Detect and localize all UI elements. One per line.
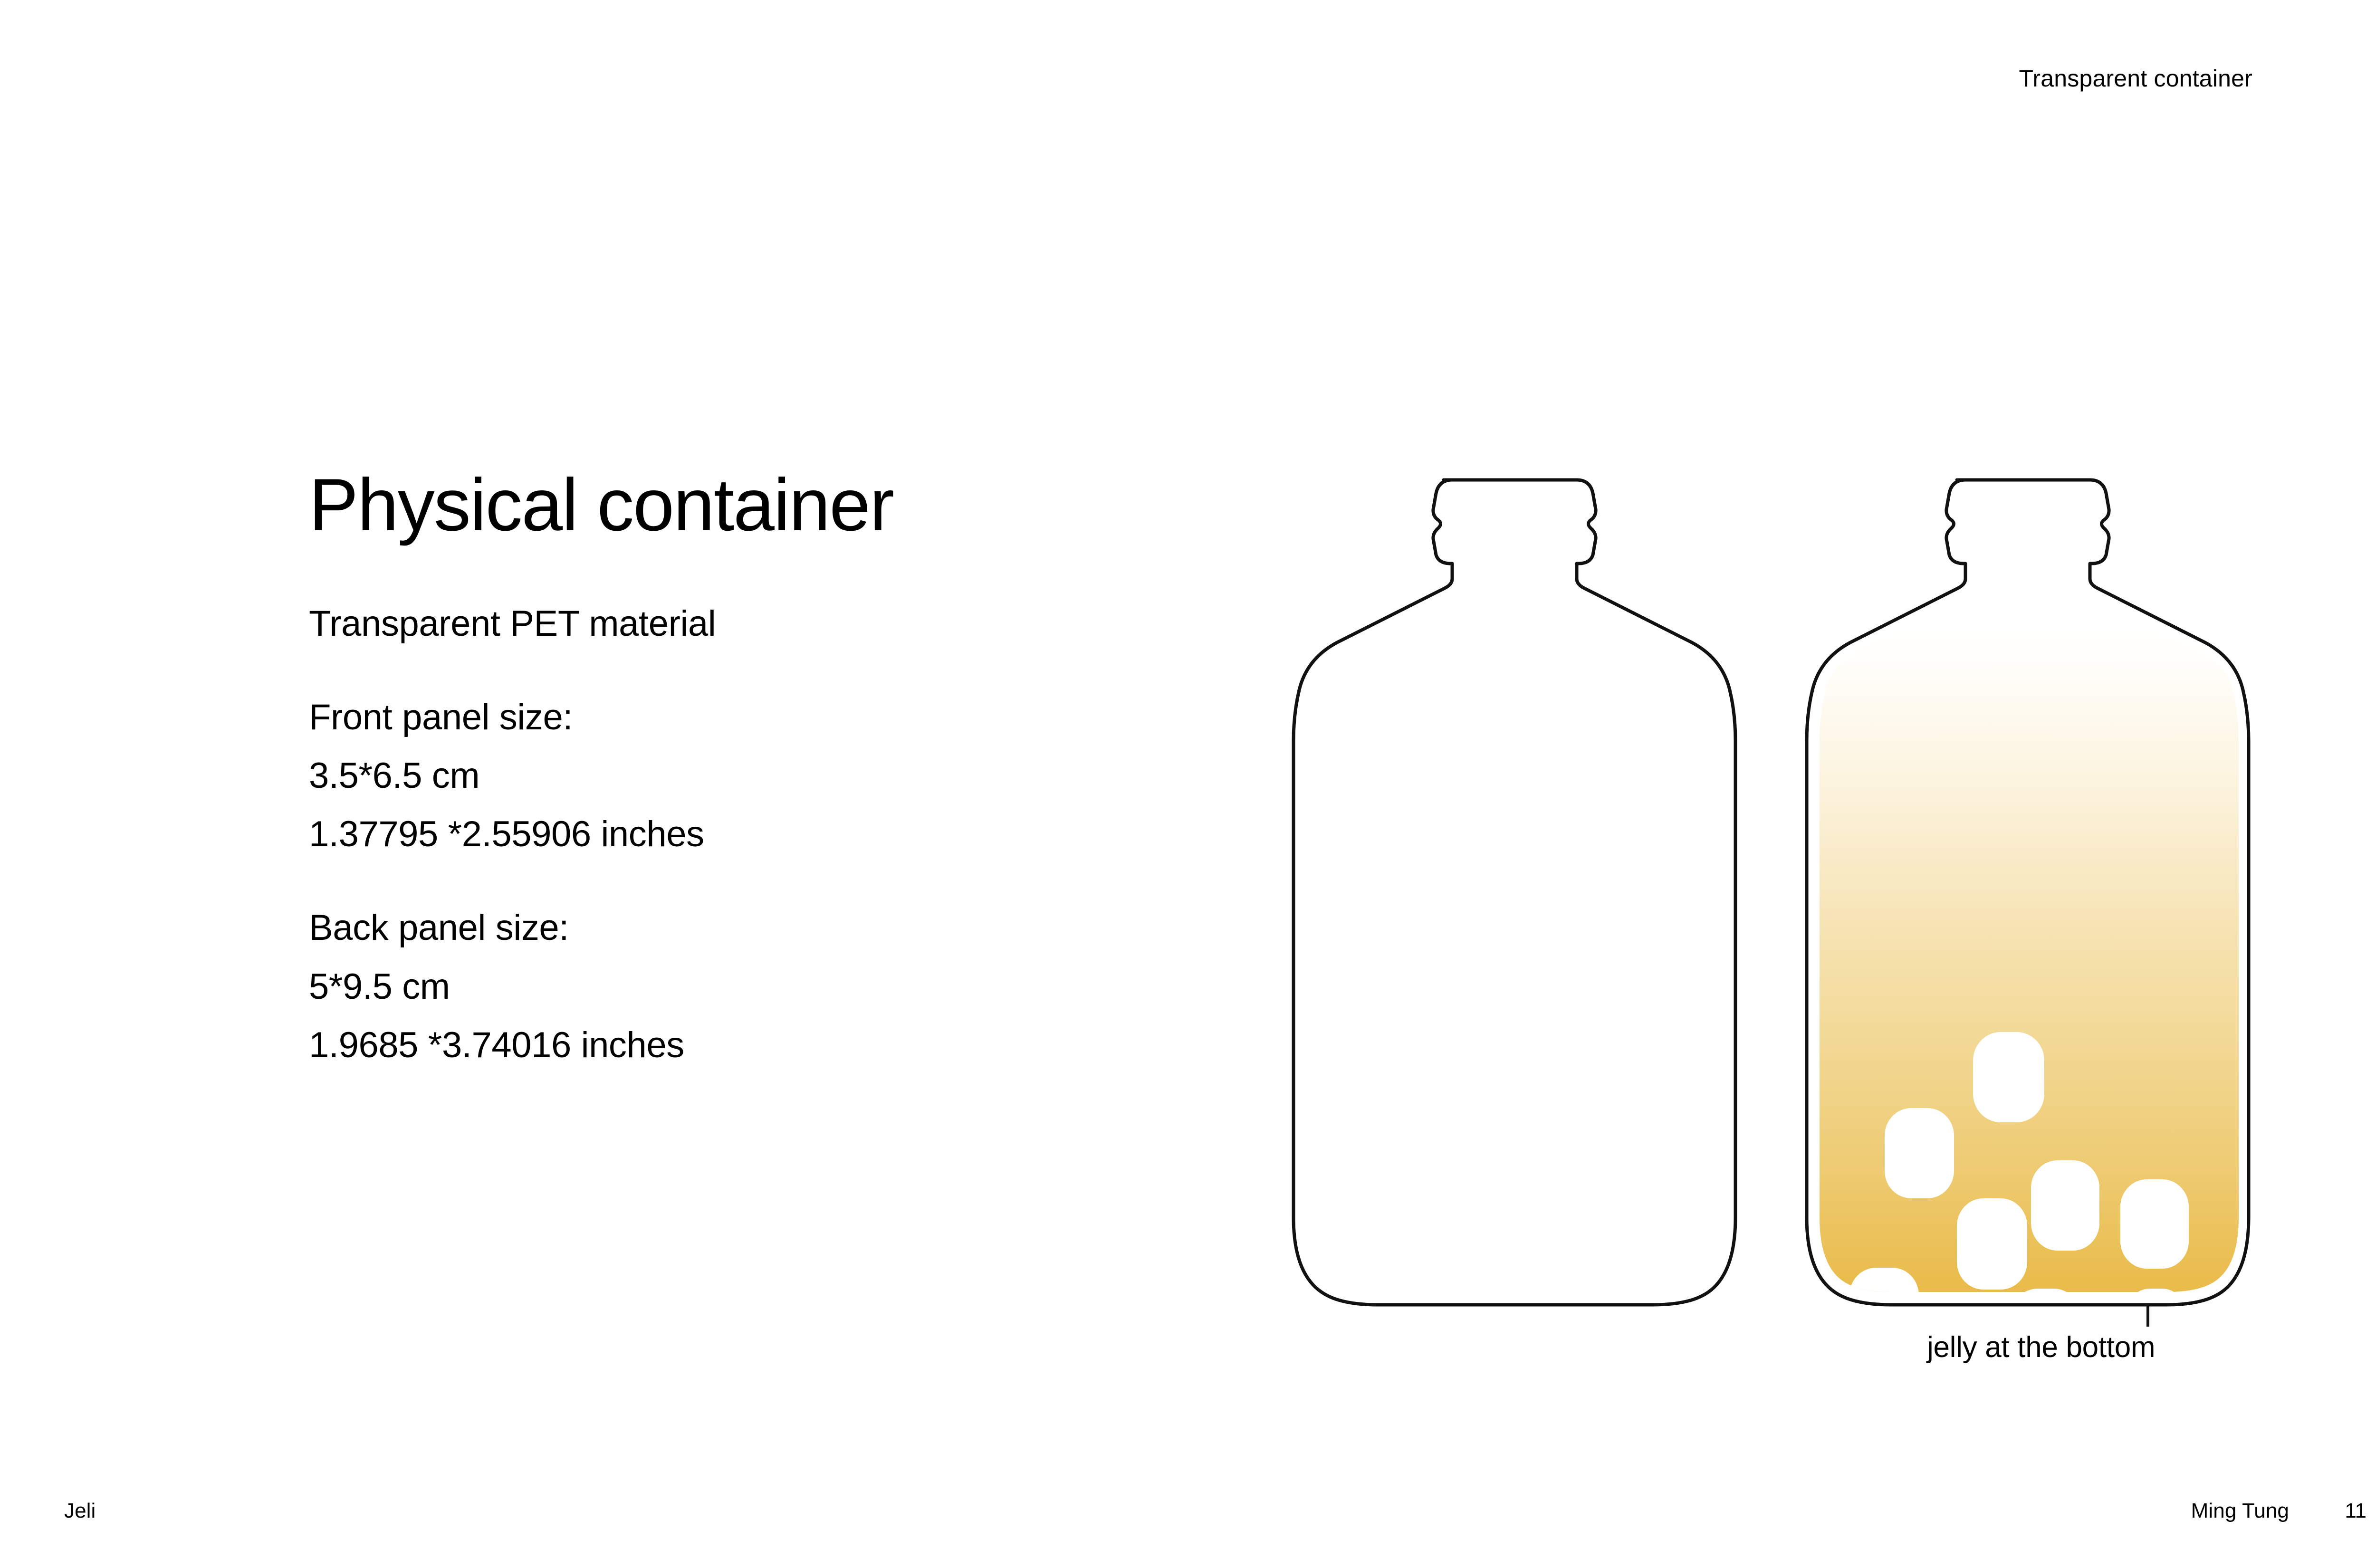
- footer-author-name: Ming Tung: [2191, 1501, 2289, 1521]
- footer-project-name: Jeli: [64, 1501, 96, 1521]
- running-header-title: Transparent container: [2019, 67, 2252, 90]
- material-note: Transparent PET material: [309, 594, 1212, 653]
- empty-bottle-graphic: [1293, 480, 1735, 1305]
- specs-block: Transparent PET material Front panel siz…: [309, 594, 1212, 1074]
- jelly-caption: jelly at the bottom: [1927, 1333, 2155, 1362]
- filled-bottle-graphic: [1801, 480, 2257, 1464]
- jelly-cube: [1849, 1268, 1919, 1359]
- front-panel-label: Front panel size:: [309, 688, 1212, 746]
- spacer: [309, 863, 1212, 899]
- jelly-cube: [2120, 1179, 2189, 1269]
- front-panel-metric: 3.5*6.5 cm: [309, 746, 1212, 805]
- back-panel-imperial: 1.9685 *3.74016 inches: [309, 1016, 1212, 1074]
- jelly-cube: [1885, 1108, 1954, 1198]
- jelly-cube: [1973, 1032, 2044, 1122]
- jelly-cubes-group: [1849, 1032, 2189, 1464]
- back-panel-label: Back panel size:: [309, 899, 1212, 957]
- jelly-cube: [2031, 1160, 2099, 1251]
- footer-page-number: 11: [2345, 1501, 2366, 1521]
- jelly-cube: [1957, 1198, 2027, 1290]
- jelly-cube: [2082, 1379, 2149, 1464]
- page-title: Physical container: [309, 468, 1212, 542]
- back-panel-metric: 5*9.5 cm: [309, 957, 1212, 1016]
- front-panel-imperial: 1.37795 *2.55906 inches: [309, 805, 1212, 863]
- spacer: [309, 653, 1212, 688]
- text-column: Physical container Transparent PET mater…: [309, 468, 1212, 1074]
